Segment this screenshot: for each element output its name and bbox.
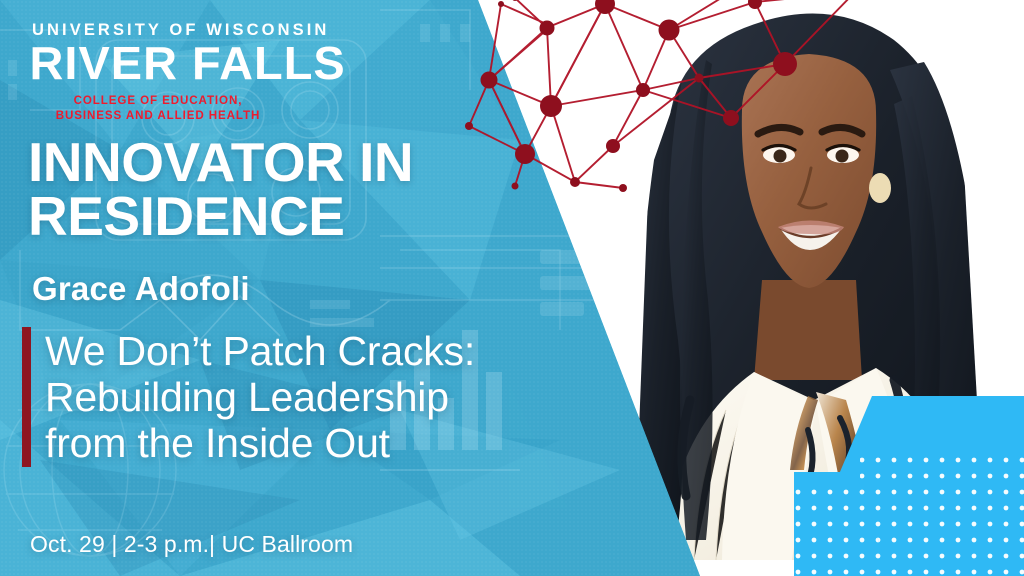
program-title: INNOVATOR IN RESIDENCE (28, 136, 413, 244)
talk-title-line-3: from the Inside Out (45, 421, 475, 467)
event-details: Oct. 29 | 2-3 p.m.| UC Ballroom (30, 531, 353, 558)
talk-title-line-2: Rebuilding Leadership (45, 375, 475, 421)
speaker-name: Grace Adofoli (32, 270, 250, 308)
flyer-content: UNIVERSITY OF WISCONSIN RIVER FALLS COLL… (0, 0, 640, 576)
university-logo: UNIVERSITY OF WISCONSIN RIVER FALLS COLL… (32, 22, 284, 123)
red-accent-bar (22, 327, 31, 467)
event-flyer: UNIVERSITY OF WISCONSIN RIVER FALLS COLL… (0, 0, 1024, 576)
college-name: COLLEGE OF EDUCATION, BUSINESS AND ALLIE… (32, 93, 284, 124)
college-line-1: COLLEGE OF EDUCATION, (32, 93, 284, 108)
program-title-line-2: RESIDENCE (28, 190, 413, 244)
college-line-2: BUSINESS AND ALLIED HEALTH (32, 108, 284, 123)
talk-title-block: We Don’t Patch Cracks: Rebuilding Leader… (22, 327, 475, 467)
talk-title-line-1: We Don’t Patch Cracks: (45, 329, 475, 375)
campus-name: RIVER FALLS (29, 41, 286, 85)
program-title-line-1: INNOVATOR IN (28, 136, 413, 190)
talk-title: We Don’t Patch Cracks: Rebuilding Leader… (45, 327, 475, 467)
